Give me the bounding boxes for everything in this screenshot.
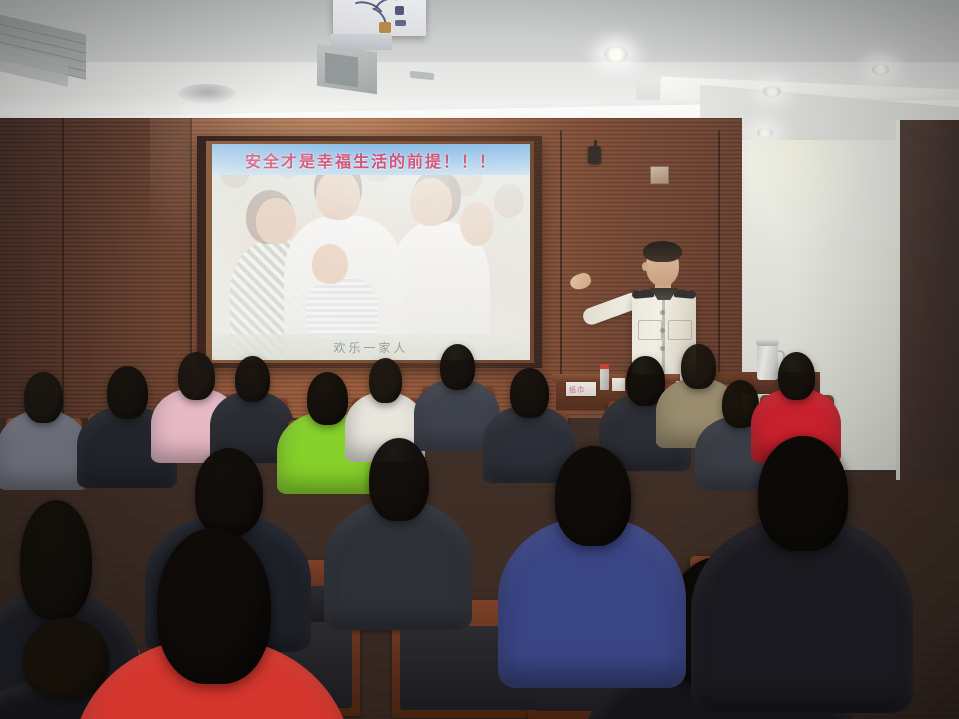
- presenter-shirt-button: [660, 346, 665, 351]
- ceiling-downlight: [757, 128, 773, 138]
- wall-spotlight-icon: [588, 146, 601, 164]
- audience-member: [500, 368, 558, 430]
- audience-member-head: [440, 344, 476, 390]
- water-bottle-cap: [600, 364, 609, 369]
- ceiling-downlight: [763, 86, 781, 97]
- audience-member-head: [178, 352, 215, 400]
- ceiling-downlight: [872, 64, 889, 75]
- wall-outlet-plate-icon: [650, 166, 669, 184]
- projected-family-photo: [212, 144, 530, 360]
- audience-member: [768, 352, 824, 412]
- audience-member: [430, 344, 484, 402]
- audience-member-foreground: [128, 528, 296, 718]
- audience-member-head: [20, 500, 93, 620]
- presenter-ear: [642, 262, 648, 271]
- audience-member-head: [510, 368, 548, 418]
- audience-member-head: [758, 436, 848, 551]
- ceiling-mark: [410, 71, 434, 81]
- slide-title-text: 安全才是幸福生活的前提！！！: [245, 148, 497, 172]
- ceiling-projector: [333, 0, 426, 36]
- slide-caption-text: 欢乐一家人: [333, 339, 408, 356]
- audience-member: [96, 366, 158, 432]
- right-wall-dark-column: [898, 120, 959, 480]
- audience-member: [352, 438, 444, 542]
- audience-member: [168, 352, 224, 412]
- audience-member-foreground: [536, 446, 648, 568]
- presenter-shirt-button: [660, 310, 665, 315]
- tissue-box-label: 纸巾: [569, 385, 585, 395]
- audience-member-head: [107, 366, 148, 419]
- audience-member-head: [307, 372, 348, 425]
- thermos-lid: [756, 339, 779, 346]
- audience-member-head: [778, 352, 815, 400]
- audience-member-head: [369, 358, 402, 403]
- right-wall-column-edge: [896, 120, 900, 480]
- audience-member-head: [23, 618, 109, 699]
- ceiling-access-plate-inner: [325, 53, 358, 88]
- presenter-shirt-pocket-right: [668, 320, 692, 340]
- ceiling-downlight: [604, 46, 628, 63]
- audience-member-head: [369, 438, 430, 521]
- audience-member: [360, 358, 410, 414]
- audience-member-head: [157, 528, 271, 684]
- audience-member-head: [24, 372, 62, 423]
- projection-screen[interactable]: 安全才是幸福生活的前提！！！ 欢乐一家人: [212, 144, 530, 360]
- audience-member-head: [235, 356, 269, 402]
- audience-member: [226, 356, 278, 414]
- ceiling-upper-plane: [0, 0, 959, 62]
- water-bottle[interactable]: [600, 368, 609, 390]
- audience-member-head: [555, 446, 631, 546]
- audience-member-head: [195, 448, 264, 536]
- conference-room-photo: 安全才是幸福生活的前提！！！ 欢乐一家人 纸巾: [0, 0, 959, 719]
- slide-title-banner: 安全才是幸福生活的前提！！！: [212, 144, 530, 175]
- presenter-hair: [643, 241, 682, 262]
- presenter-shirt-pocket-left: [638, 320, 662, 340]
- audience-member: [14, 372, 72, 436]
- right-wall-light-glow: [748, 140, 878, 260]
- audience-member-head: [681, 344, 715, 389]
- audience-member-foreground: [736, 436, 868, 576]
